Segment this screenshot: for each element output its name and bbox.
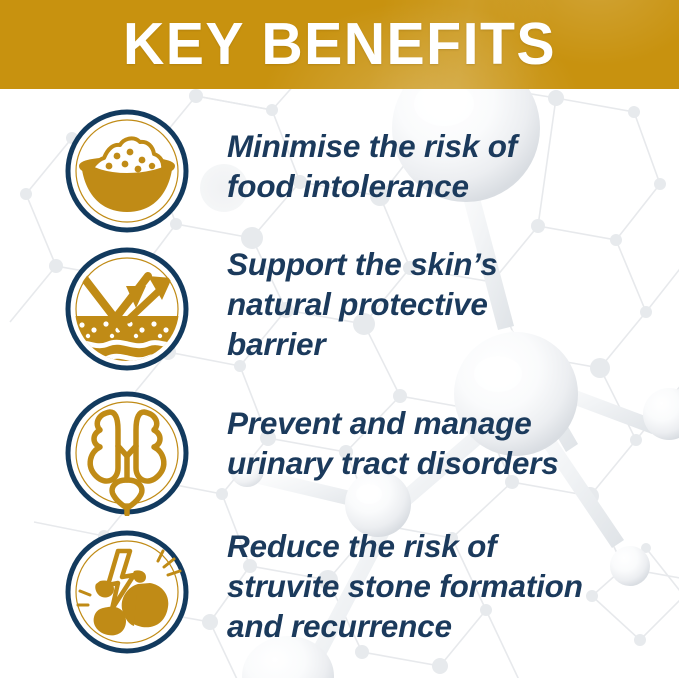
benefit-list: Minimise the risk of food intolerance <box>0 89 679 678</box>
skin-barrier-icon <box>64 246 190 372</box>
page-title: KEY BENEFITS <box>10 0 669 89</box>
benefit-line: food intolerance <box>227 166 675 206</box>
benefit-line: Minimise the risk of <box>227 126 675 166</box>
benefit-line: urinary tract disorders <box>227 443 675 483</box>
benefit-line: struvite stone formation <box>227 566 675 606</box>
benefit-line: Prevent and manage <box>227 403 675 443</box>
benefit-text-urinary-tract: Prevent and manage urinary tract disorde… <box>227 403 675 483</box>
benefit-text-food-intolerance: Minimise the risk of food intolerance <box>227 126 675 206</box>
food-bowl-icon <box>64 108 190 234</box>
benefit-line: Reduce the risk of <box>227 526 675 566</box>
benefit-line: Support the skin’s <box>227 244 675 284</box>
urinary-tract-icon <box>64 390 190 516</box>
benefit-text-struvite-stones: Reduce the risk of struvite stone format… <box>227 526 675 646</box>
benefit-line: natural protective <box>227 284 675 324</box>
key-benefits-infographic: KEY BENEFITS <box>0 0 679 678</box>
struvite-stone-icon <box>64 529 190 655</box>
benefit-line: and recurrence <box>227 606 675 646</box>
benefit-line: barrier <box>227 324 675 364</box>
benefit-text-skin-barrier: Support the skin’s natural protective ba… <box>227 244 675 364</box>
